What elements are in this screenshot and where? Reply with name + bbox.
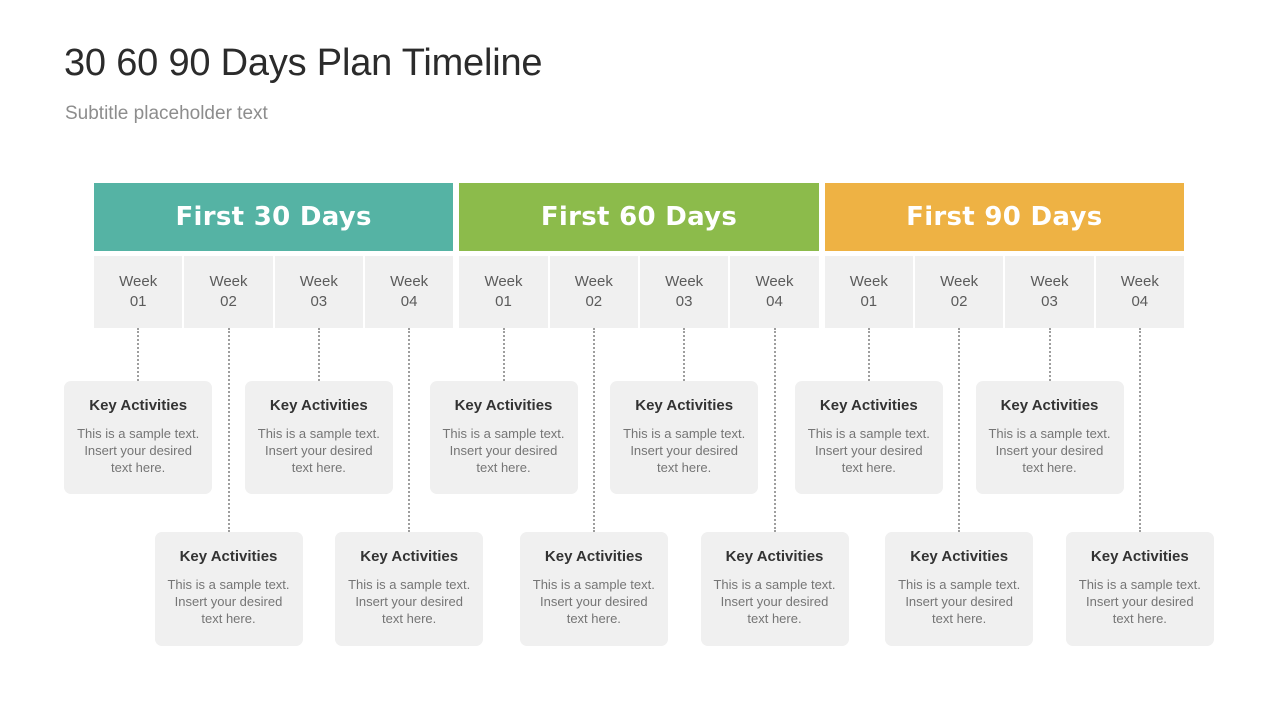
activity-card-title: Key Activities	[255, 397, 383, 414]
activity-card[interactable]: Key ActivitiesThis is a sample text. Ins…	[610, 381, 758, 494]
timeline-header-strip: First 30 DaysWeek01Week02Week03Week04Fir…	[94, 183, 1184, 328]
week-cell-line1: Week	[1030, 272, 1068, 292]
activity-card[interactable]: Key ActivitiesThis is a sample text. Ins…	[885, 532, 1033, 646]
phase-header-label: First 30 Days	[175, 202, 371, 232]
phase-group-3: First 90 DaysWeek01Week02Week03Week04	[825, 183, 1184, 328]
activity-card[interactable]: Key ActivitiesThis is a sample text. Ins…	[430, 381, 578, 494]
week-row: Week01Week02Week03Week04	[825, 256, 1184, 328]
connector-line-week-5	[503, 328, 507, 381]
activity-card-title: Key Activities	[345, 548, 473, 565]
activity-card-body: This is a sample text. Insert your desir…	[986, 425, 1114, 476]
connector-line-week-9	[868, 328, 872, 381]
phase-header-1[interactable]: First 30 Days	[94, 183, 453, 251]
activity-card-title: Key Activities	[711, 548, 839, 565]
week-cell-p1-w4[interactable]: Week04	[365, 256, 453, 328]
activity-card-body: This is a sample text. Insert your desir…	[74, 425, 202, 476]
week-cell-line1: Week	[940, 272, 978, 292]
week-cell-line1: Week	[390, 272, 428, 292]
week-cell-line1: Week	[1121, 272, 1159, 292]
connector-line-week-12	[1139, 328, 1143, 532]
week-cell-p2-w2[interactable]: Week02	[550, 256, 638, 328]
week-cell-line2: 03	[676, 292, 693, 312]
activity-card-body: This is a sample text. Insert your desir…	[255, 425, 383, 476]
phase-header-label: First 60 Days	[541, 202, 737, 232]
phase-header-3[interactable]: First 90 Days	[825, 183, 1184, 251]
activity-card-title: Key Activities	[530, 548, 658, 565]
activity-card[interactable]: Key ActivitiesThis is a sample text. Ins…	[520, 532, 668, 646]
week-cell-p3-w3[interactable]: Week03	[1005, 256, 1093, 328]
week-cell-line2: 02	[220, 292, 237, 312]
activity-card-body: This is a sample text. Insert your desir…	[345, 576, 473, 627]
activity-card-body: This is a sample text. Insert your desir…	[620, 425, 748, 476]
activity-card[interactable]: Key ActivitiesThis is a sample text. Ins…	[1066, 532, 1214, 646]
activity-card-title: Key Activities	[986, 397, 1114, 414]
week-cell-p1-w3[interactable]: Week03	[275, 256, 363, 328]
activity-card-title: Key Activities	[74, 397, 202, 414]
connector-line-week-4	[408, 328, 412, 532]
activity-card-body: This is a sample text. Insert your desir…	[711, 576, 839, 627]
activity-card[interactable]: Key ActivitiesThis is a sample text. Ins…	[155, 532, 303, 646]
week-cell-line2: 01	[860, 292, 877, 312]
phase-group-2: First 60 DaysWeek01Week02Week03Week04	[459, 183, 818, 328]
connector-line-week-1	[137, 328, 141, 381]
week-cell-p3-w2[interactable]: Week02	[915, 256, 1003, 328]
connector-line-week-8	[774, 328, 778, 532]
phase-header-label: First 90 Days	[906, 202, 1102, 232]
page-title: 30 60 90 Days Plan Timeline	[64, 42, 542, 85]
week-cell-p1-w1[interactable]: Week01	[94, 256, 182, 328]
activity-card-title: Key Activities	[620, 397, 748, 414]
activity-card-body: This is a sample text. Insert your desir…	[530, 576, 658, 627]
activity-card-title: Key Activities	[440, 397, 568, 414]
activity-card-body: This is a sample text. Insert your desir…	[440, 425, 568, 476]
week-cell-p3-w4[interactable]: Week04	[1096, 256, 1184, 328]
activity-card[interactable]: Key ActivitiesThis is a sample text. Ins…	[64, 381, 212, 494]
activity-card[interactable]: Key ActivitiesThis is a sample text. Ins…	[701, 532, 849, 646]
week-cell-line2: 01	[130, 292, 147, 312]
week-cell-p2-w4[interactable]: Week04	[730, 256, 818, 328]
activity-card-title: Key Activities	[1076, 548, 1204, 565]
week-row: Week01Week02Week03Week04	[94, 256, 453, 328]
week-cell-p1-w2[interactable]: Week02	[184, 256, 272, 328]
page-subtitle: Subtitle placeholder text	[65, 103, 268, 125]
week-cell-p2-w3[interactable]: Week03	[640, 256, 728, 328]
week-cell-line1: Week	[850, 272, 888, 292]
week-cell-line1: Week	[575, 272, 613, 292]
phase-group-1: First 30 DaysWeek01Week02Week03Week04	[94, 183, 453, 328]
week-cell-line2: 03	[1041, 292, 1058, 312]
connector-line-week-2	[228, 328, 232, 532]
activity-card-title: Key Activities	[895, 548, 1023, 565]
phase-header-2[interactable]: First 60 Days	[459, 183, 818, 251]
week-cell-line2: 03	[310, 292, 327, 312]
activity-card-body: This is a sample text. Insert your desir…	[1076, 576, 1204, 627]
week-cell-line1: Week	[484, 272, 522, 292]
week-cell-line2: 01	[495, 292, 512, 312]
week-cell-p2-w1[interactable]: Week01	[459, 256, 547, 328]
connector-line-week-11	[1049, 328, 1053, 381]
activity-card[interactable]: Key ActivitiesThis is a sample text. Ins…	[795, 381, 943, 494]
week-cell-line1: Week	[300, 272, 338, 292]
week-cell-line2: 04	[766, 292, 783, 312]
activity-card-title: Key Activities	[805, 397, 933, 414]
week-cell-line2: 02	[585, 292, 602, 312]
activity-card[interactable]: Key ActivitiesThis is a sample text. Ins…	[335, 532, 483, 646]
activity-card-title: Key Activities	[165, 548, 293, 565]
activity-card[interactable]: Key ActivitiesThis is a sample text. Ins…	[976, 381, 1124, 494]
week-cell-line1: Week	[209, 272, 247, 292]
week-cell-line2: 04	[401, 292, 418, 312]
connector-line-week-10	[958, 328, 962, 532]
activity-card[interactable]: Key ActivitiesThis is a sample text. Ins…	[245, 381, 393, 494]
week-row: Week01Week02Week03Week04	[459, 256, 818, 328]
connector-line-week-6	[593, 328, 597, 532]
connector-line-week-3	[318, 328, 322, 381]
week-cell-line1: Week	[755, 272, 793, 292]
week-cell-line2: 02	[951, 292, 968, 312]
activity-card-body: This is a sample text. Insert your desir…	[895, 576, 1023, 627]
week-cell-line1: Week	[119, 272, 157, 292]
activity-card-body: This is a sample text. Insert your desir…	[805, 425, 933, 476]
activity-card-body: This is a sample text. Insert your desir…	[165, 576, 293, 627]
week-cell-line2: 04	[1131, 292, 1148, 312]
week-cell-p3-w1[interactable]: Week01	[825, 256, 913, 328]
week-cell-line1: Week	[665, 272, 703, 292]
connector-line-week-7	[683, 328, 687, 381]
